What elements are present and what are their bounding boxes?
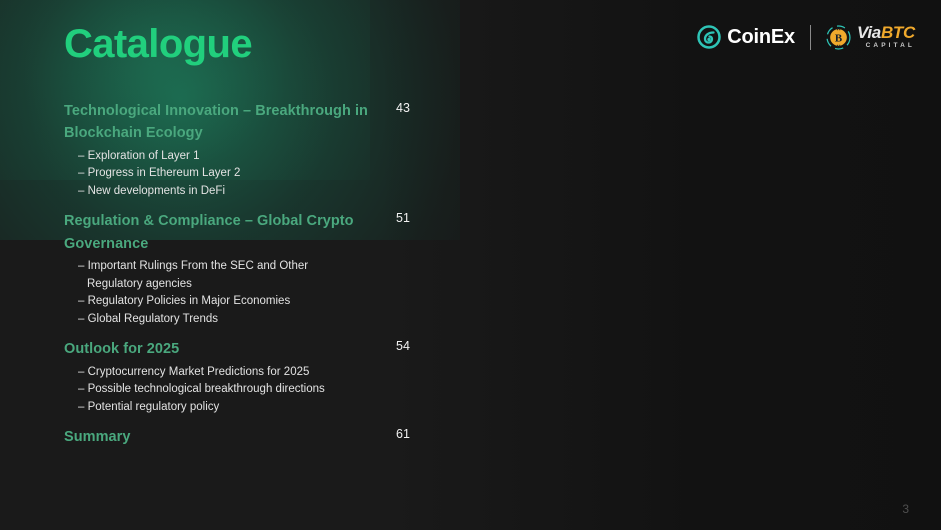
- viabtc-wordmark: ViaBTC: [857, 24, 915, 41]
- toc-heading-row: Outlook for 2025 54: [64, 338, 424, 360]
- toc-sublist: – Exploration of Layer 1 – Progress in E…: [64, 148, 424, 200]
- viabtc-logo: B ViaBTC CAPITAL: [826, 24, 915, 50]
- toc-page-number: 61: [396, 427, 446, 441]
- toc-entry[interactable]: Outlook for 2025 54 – Cryptocurrency Mar…: [64, 338, 424, 416]
- toc-spacer: [64, 419, 424, 426]
- toc-entry[interactable]: Summary 61: [64, 426, 424, 448]
- toc-subitem[interactable]: – Regulatory Policies in Major Economies: [64, 293, 355, 310]
- viabtc-word-via: Via: [857, 23, 881, 42]
- toc-page-number: 43: [396, 101, 446, 115]
- toc-spacer: [64, 331, 424, 338]
- viabtc-subtitle: CAPITAL: [857, 43, 915, 50]
- toc-spacer: [64, 203, 424, 210]
- toc-subitem[interactable]: – Important Rulings From the SEC and Oth…: [64, 258, 355, 293]
- slide-number: 3: [902, 502, 909, 516]
- toc-entry[interactable]: Technological Innovation – Breakthrough …: [64, 100, 424, 200]
- toc-subitem[interactable]: – Exploration of Layer 1: [64, 148, 355, 165]
- coinex-logo-icon: [697, 25, 721, 49]
- background-dark-overlay: [381, 0, 941, 530]
- coinex-logo: CoinEx: [697, 25, 795, 49]
- toc-subitem[interactable]: – Potential regulatory policy: [64, 399, 355, 416]
- toc-sublist: – Cryptocurrency Market Predictions for …: [64, 364, 424, 416]
- toc-subitem[interactable]: – Possible technological breakthrough di…: [64, 381, 355, 398]
- table-of-contents: Technological Innovation – Breakthrough …: [64, 100, 424, 452]
- page-title: Catalogue: [64, 20, 252, 68]
- logo-divider: [810, 25, 811, 50]
- bitcoin-logo-icon: B: [826, 25, 851, 50]
- brand-logo-bar: CoinEx B ViaBTC CAPITAL: [697, 20, 915, 54]
- toc-subitem[interactable]: – Global Regulatory Trends: [64, 311, 355, 328]
- toc-heading-row: Summary 61: [64, 426, 424, 448]
- toc-subitem[interactable]: – Cryptocurrency Market Predictions for …: [64, 364, 355, 381]
- toc-page-number: 54: [396, 339, 446, 353]
- toc-heading-row: Technological Innovation – Breakthrough …: [64, 100, 424, 145]
- presentation-slide: CoinEx B ViaBTC CAPITAL Catalogue: [0, 0, 941, 530]
- toc-entry[interactable]: Regulation & Compliance – Global Crypto …: [64, 210, 424, 328]
- viabtc-wordmark-block: ViaBTC CAPITAL: [857, 24, 915, 50]
- coinex-wordmark: CoinEx: [727, 27, 795, 47]
- toc-heading-row: Regulation & Compliance – Global Crypto …: [64, 210, 424, 255]
- toc-sublist: – Important Rulings From the SEC and Oth…: [64, 258, 424, 328]
- svg-text:B: B: [835, 32, 842, 44]
- toc-heading[interactable]: Summary: [64, 426, 380, 448]
- toc-heading[interactable]: Technological Innovation – Breakthrough …: [64, 100, 380, 145]
- toc-subitem[interactable]: – Progress in Ethereum Layer 2: [64, 165, 355, 182]
- viabtc-word-btc: BTC: [881, 23, 915, 42]
- toc-heading[interactable]: Regulation & Compliance – Global Crypto …: [64, 210, 380, 255]
- toc-page-number: 51: [396, 211, 446, 225]
- toc-subitem[interactable]: – New developments in DeFi: [64, 183, 355, 200]
- toc-heading[interactable]: Outlook for 2025: [64, 338, 380, 360]
